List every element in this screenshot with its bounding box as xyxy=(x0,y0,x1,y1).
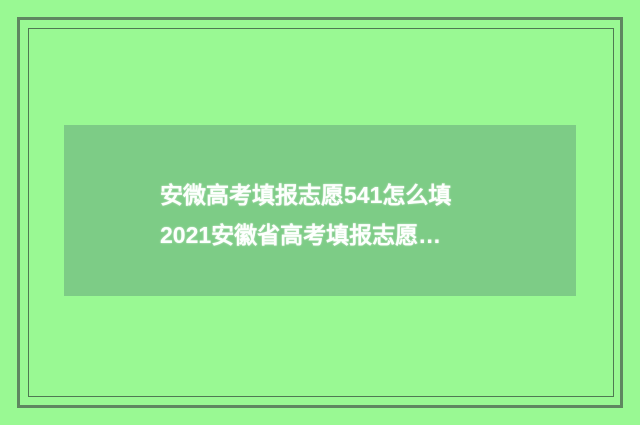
content-panel: 安微高考填报志愿541怎么填 2021安徽省高考填报志愿… xyxy=(64,125,576,296)
headline-block: 安微高考填报志愿541怎么填 2021安徽省高考填报志愿… xyxy=(160,175,560,255)
headline-line-1: 安微高考填报志愿541怎么填 xyxy=(160,175,560,215)
headline-line-2: 2021安徽省高考填报志愿… xyxy=(160,215,560,255)
page-frame: 安微高考填报志愿541怎么填 2021安徽省高考填报志愿… xyxy=(0,0,640,425)
